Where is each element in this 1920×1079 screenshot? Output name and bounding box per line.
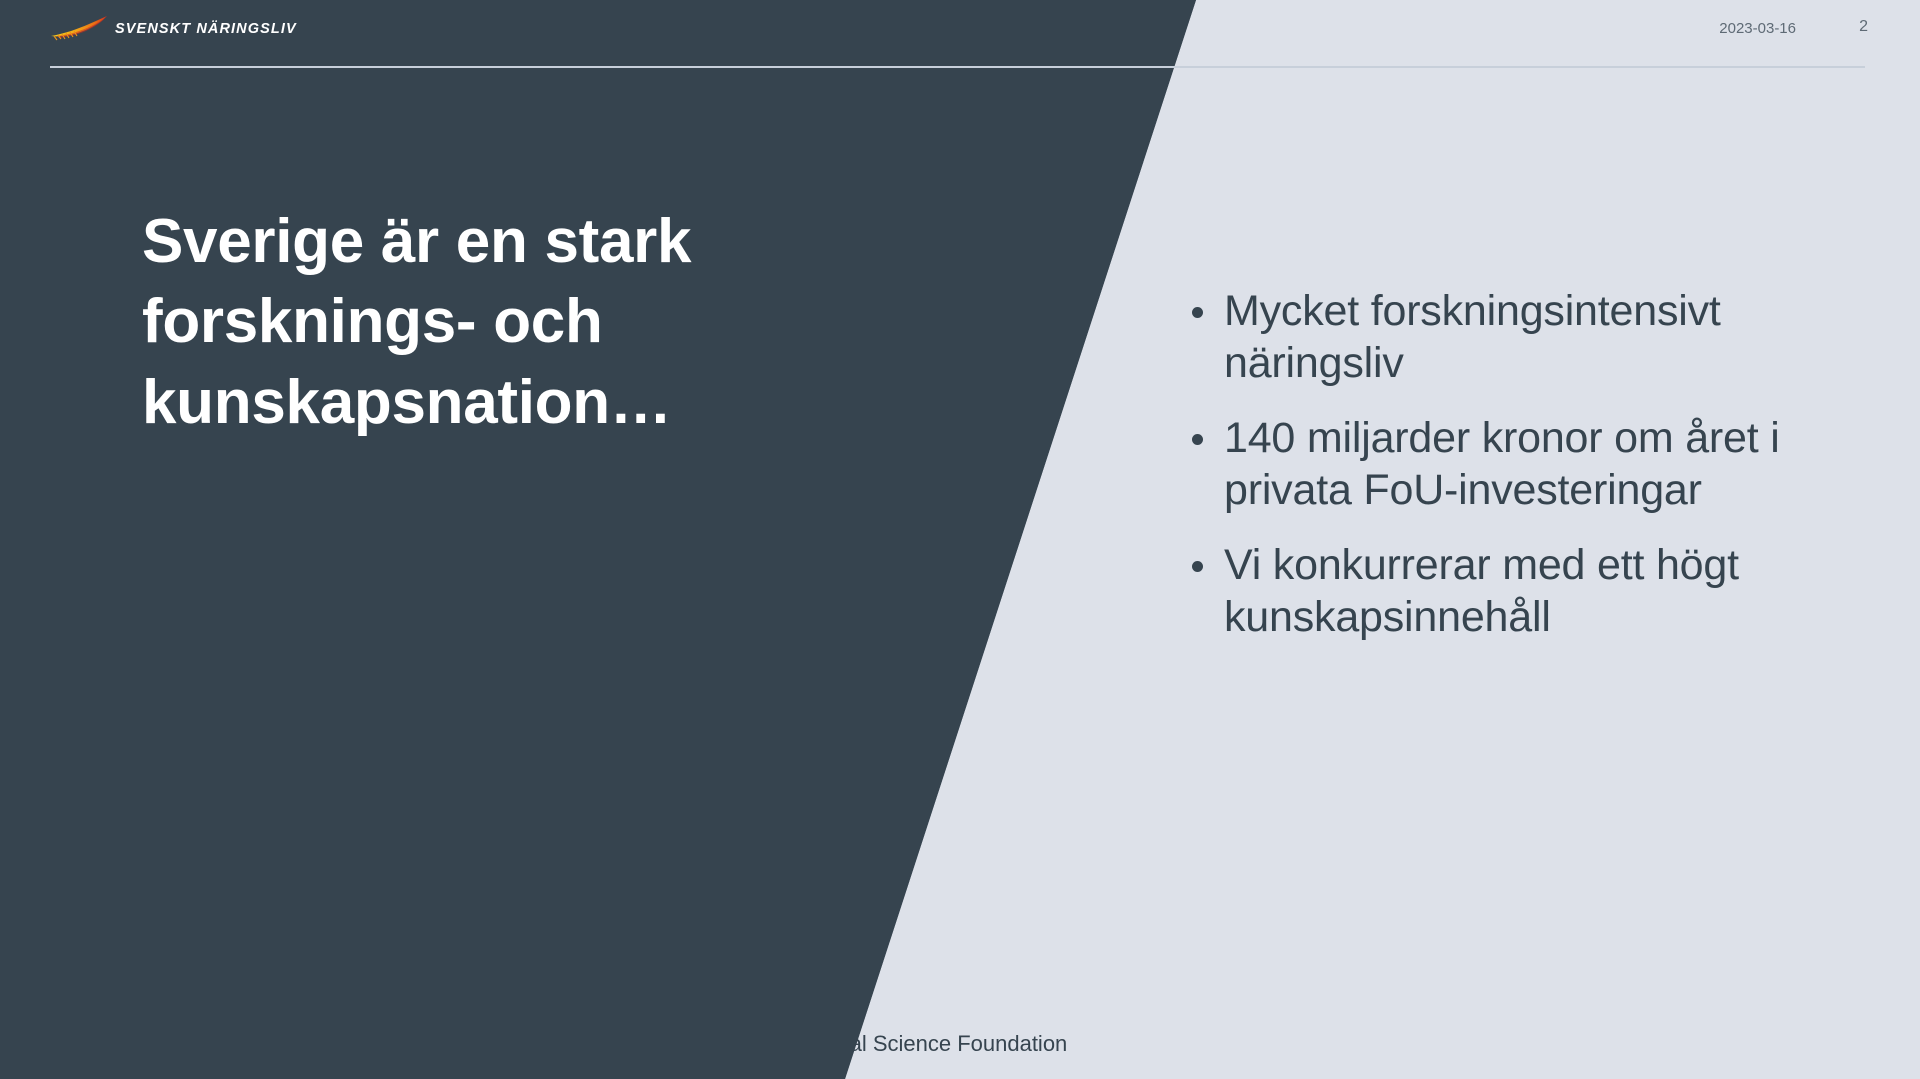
list-item: 140 miljarder kronor om året i privata F… xyxy=(1188,413,1888,516)
list-item-label: Mycket forskningsintensivt näringsliv xyxy=(1224,287,1721,387)
bullet-dot-icon xyxy=(1192,561,1203,572)
slide: National Science Foundation xyxy=(0,0,1920,1079)
bullet-dot-icon xyxy=(1192,434,1203,445)
source-credit: National Science Foundation xyxy=(786,1031,1067,1057)
brand-logo: SVENSKT NÄRINGSLIV xyxy=(50,11,297,47)
list-item: Vi konkurrerar med ett högt kunskapsinne… xyxy=(1188,540,1888,643)
brand-logo-text: SVENSKT NÄRINGSLIV xyxy=(115,21,297,37)
header-divider xyxy=(50,66,1865,68)
list-item-label: 140 miljarder kronor om året i privata F… xyxy=(1224,414,1780,514)
list-item: Mycket forskningsintensivt näringsliv xyxy=(1188,286,1888,389)
slide-header: SVENSKT NÄRINGSLIV 2023-03-16 2 xyxy=(0,0,1920,68)
bullet-list: Mycket forskningsintensivt näringsliv 14… xyxy=(1188,286,1888,668)
slide-number: 2 xyxy=(1859,18,1868,36)
list-item-label: Vi konkurrerar med ett högt kunskapsinne… xyxy=(1224,541,1739,641)
slide-date: 2023-03-16 xyxy=(1719,20,1796,37)
page-title: Sverige är en stark forsknings- och kuns… xyxy=(142,202,802,444)
wing-mark-icon xyxy=(50,14,108,44)
bullet-dot-icon xyxy=(1192,307,1203,318)
